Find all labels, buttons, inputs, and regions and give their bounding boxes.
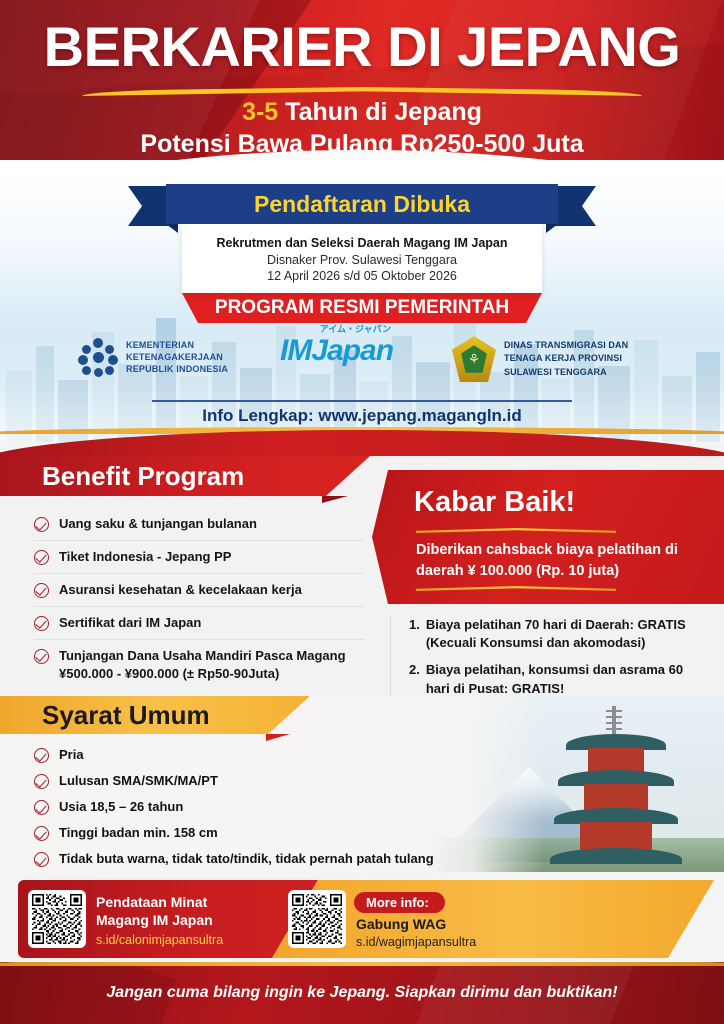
footer-tagline: Jangan cuma bilang ingin ke Jepang. Siap… bbox=[0, 984, 724, 1002]
benefit-item-text: Sertifikat dari IM Japan bbox=[59, 614, 201, 632]
good-news-notes-list: 1. Biaya pelatihan 70 hari di Daerah: GR… bbox=[390, 616, 710, 707]
requirements-heading: Syarat Umum bbox=[42, 700, 210, 731]
kemnaker-logo-text: KEMENTERIAN KETENAGAKERJAAN REPUBLIK IND… bbox=[126, 340, 228, 375]
good-news-rule-top bbox=[416, 528, 616, 533]
good-news-card-notch bbox=[372, 470, 388, 604]
disnaker-text-line-3: SULAWESI TENGGARA bbox=[504, 366, 628, 379]
note-number: 1. bbox=[409, 616, 420, 652]
requirement-list-item: Pria bbox=[34, 746, 434, 763]
check-circle-icon bbox=[34, 517, 49, 532]
qr-code-strip: Pendataan Minat Magang IM Japan s.id/cal… bbox=[0, 872, 724, 966]
more-info-pill: More info: bbox=[354, 892, 445, 913]
benefit-item-text: Tunjangan Dana Usaha Mandiri Pasca Magan… bbox=[59, 648, 346, 663]
check-circle-icon bbox=[34, 748, 49, 763]
benefit-program-heading: Benefit Program bbox=[42, 461, 244, 492]
requirement-list-item: Tinggi badan min. 158 cm bbox=[34, 824, 434, 841]
logo-row: KEMENTERIAN KETENAGAKERJAAN REPUBLIK IND… bbox=[0, 336, 724, 394]
benefit-list-item: Tiket Indonesia - Jepang PP bbox=[34, 541, 364, 574]
requirement-text: Tidak buta warna, tidak tato/tindik, tid… bbox=[59, 851, 434, 866]
mount-fuji-pagoda-photo bbox=[424, 696, 724, 872]
benefit-program-heading-banner: Benefit Program bbox=[0, 456, 370, 496]
registration-info-box: Rekrutmen dan Seleksi Daerah Magang IM J… bbox=[182, 224, 542, 293]
qr-code-pendataan-minat[interactable] bbox=[28, 890, 86, 948]
kemnaker-text-line-2: KETENAGAKERJAAN bbox=[126, 352, 228, 364]
requirement-text: Usia 18,5 – 26 tahun bbox=[59, 799, 183, 814]
check-circle-icon bbox=[34, 800, 49, 815]
qr-right-text: Gabung WAG s.id/wagimjapansultra bbox=[356, 916, 476, 949]
chureito-pagoda-shape bbox=[554, 708, 678, 868]
subtitle-duration: 3-5 Tahun di Jepang bbox=[0, 98, 724, 127]
footer-banner: Jangan cuma bilang ingin ke Jepang. Siap… bbox=[0, 962, 724, 1024]
im-japan-katakana: アイム・ジャパン bbox=[320, 325, 391, 334]
note-item: 2. Biaya pelatihan, konsumsi dan asrama … bbox=[409, 661, 710, 697]
benefit-list: Uang saku & tunjangan bulanan Tiket Indo… bbox=[34, 508, 364, 690]
qr-code-image bbox=[292, 894, 342, 944]
requirements-banner-fold bbox=[266, 734, 290, 741]
info-divider bbox=[152, 400, 572, 402]
official-program-banner: PROGRAM RESMI PEMERINTAH bbox=[182, 293, 542, 323]
benefit-item-text: Asuransi kesehatan & kecelakaan kerja bbox=[59, 581, 302, 599]
qr-right-url[interactable]: s.id/wagimjapansultra bbox=[356, 935, 476, 949]
benefit-item-text: Tiket Indonesia - Jepang PP bbox=[59, 548, 231, 566]
qr-left-title-line-1: Pendataan Minat bbox=[96, 894, 223, 912]
info-website-line[interactable]: Info Lengkap: www.jepang.magangln.id bbox=[0, 406, 724, 426]
good-news-body: Diberikan cahsback biaya pelatihan di da… bbox=[416, 540, 706, 581]
check-circle-icon bbox=[34, 583, 49, 598]
check-circle-icon bbox=[34, 550, 49, 565]
disnaker-text-line-2: TENAGA KERJA PROVINSI bbox=[504, 352, 628, 365]
qr-code-gabung-wag[interactable] bbox=[288, 890, 346, 948]
subtitle-years: 3-5 bbox=[242, 98, 278, 126]
requirement-text: Pria bbox=[59, 747, 84, 762]
qr-code-image bbox=[32, 894, 82, 944]
benefit-item-subtext: ¥500.000 - ¥900.000 (± Rp50-90Juta) bbox=[59, 665, 346, 683]
benefit-list-item: Asuransi kesehatan & kecelakaan kerja bbox=[34, 574, 364, 607]
check-circle-icon bbox=[34, 826, 49, 841]
registration-block: Pendaftaran Dibuka Rekrutmen dan Seleksi… bbox=[0, 184, 724, 323]
qr-left-title-line-2: Magang IM Japan bbox=[96, 912, 223, 930]
disnaker-logo-text: DINAS TRANSMIGRASI DAN TENAGA KERJA PROV… bbox=[504, 339, 628, 378]
qr-left-text: Pendataan Minat Magang IM Japan s.id/cal… bbox=[96, 894, 223, 947]
registration-ribbon-label: Pendaftaran Dibuka bbox=[166, 184, 558, 224]
poster: BERKARIER DI JEPANG 3-5 Tahun di Jepang … bbox=[0, 0, 724, 1024]
requirements-list: Pria Lulusan SMA/SMK/MA/PT Usia 18,5 – 2… bbox=[34, 746, 434, 872]
benefit-item-text-group: Tunjangan Dana Usaha Mandiri Pasca Magan… bbox=[59, 647, 346, 683]
kemnaker-text-line-3: REPUBLIK INDONESIA bbox=[126, 364, 228, 376]
requirement-text: Lulusan SMA/SMK/MA/PT bbox=[59, 773, 218, 788]
requirements-heading-banner: Syarat Umum bbox=[0, 696, 310, 734]
benefit-list-item: Uang saku & tunjangan bulanan bbox=[34, 508, 364, 541]
good-news-rule-bottom bbox=[416, 586, 616, 591]
subtitle-years-rest: Tahun di Jepang bbox=[278, 98, 482, 126]
benefit-banner-fold bbox=[322, 496, 348, 503]
kemnaker-logo-icon bbox=[78, 338, 118, 378]
check-circle-icon bbox=[34, 774, 49, 789]
im-japan-japan: Japan bbox=[311, 334, 393, 367]
logo-kemnaker: KEMENTERIAN KETENAGAKERJAAN REPUBLIK IND… bbox=[78, 338, 228, 378]
poster-title: BERKARIER DI JEPANG bbox=[0, 14, 724, 79]
note-number: 2. bbox=[409, 661, 420, 697]
note-text: Biaya pelatihan 70 hari di Daerah: GRATI… bbox=[426, 616, 710, 652]
note-item: 1. Biaya pelatihan 70 hari di Daerah: GR… bbox=[409, 616, 710, 652]
im-japan-wordmark: IMJapan アイム・ジャパン bbox=[280, 336, 393, 366]
disnaker-text-line-1: DINAS TRANSMIGRASI DAN bbox=[504, 339, 628, 352]
check-circle-icon bbox=[34, 852, 49, 867]
check-circle-icon bbox=[34, 649, 49, 664]
requirements-section: Syarat Umum Pria Lulusan SMA/SMK/MA/PT U… bbox=[0, 696, 724, 872]
middle-section: Benefit Program Uang saku & tunjangan bu… bbox=[0, 456, 724, 696]
benefit-item-text: Uang saku & tunjangan bulanan bbox=[59, 515, 257, 533]
check-circle-icon bbox=[34, 616, 49, 631]
benefit-list-item: Sertifikat dari IM Japan bbox=[34, 607, 364, 640]
registration-line-2: Disnaker Prov. Sulawesi Tenggara bbox=[192, 253, 532, 267]
logo-disnaker-sultra: ⚘ DINAS TRANSMIGRASI DAN TENAGA KERJA PR… bbox=[452, 336, 628, 382]
qr-left-url[interactable]: s.id/calonimjapansultra bbox=[96, 933, 223, 947]
requirement-list-item: Usia 18,5 – 26 tahun bbox=[34, 798, 434, 815]
note-text: Biaya pelatihan, konsumsi dan asrama 60 … bbox=[426, 661, 710, 697]
footer-gold-swoosh bbox=[0, 962, 724, 966]
im-japan-im: IM bbox=[280, 334, 311, 367]
registration-line-1: Rekrutmen dan Seleksi Daerah Magang IM J… bbox=[192, 236, 532, 250]
benefit-list-item: Tunjangan Dana Usaha Mandiri Pasca Magan… bbox=[34, 640, 364, 690]
good-news-card: Kabar Baik! Diberikan cahsback biaya pel… bbox=[372, 470, 724, 604]
kemnaker-text-line-1: KEMENTERIAN bbox=[126, 340, 228, 352]
qr-right-title: Gabung WAG bbox=[356, 916, 476, 932]
logo-im-japan: IMJapan アイム・ジャパン bbox=[280, 336, 393, 366]
requirement-list-item: Tidak buta warna, tidak tato/tindik, tid… bbox=[34, 850, 434, 867]
requirement-text: Tinggi badan min. 158 cm bbox=[59, 825, 218, 840]
requirement-list-item: Lulusan SMA/SMK/MA/PT bbox=[34, 772, 434, 789]
sulawesi-tenggara-emblem-icon: ⚘ bbox=[452, 336, 496, 382]
registration-line-3: 12 April 2026 s/d 05 Oktober 2026 bbox=[192, 269, 532, 283]
good-news-heading: Kabar Baik! bbox=[414, 486, 575, 519]
header-banner: BERKARIER DI JEPANG 3-5 Tahun di Jepang … bbox=[0, 0, 724, 186]
